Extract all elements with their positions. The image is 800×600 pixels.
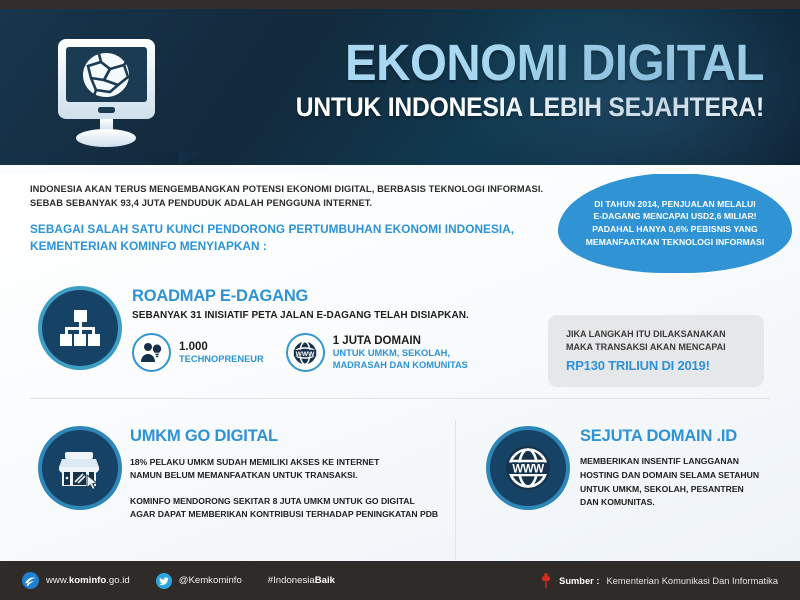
domain-line-1: MEMBERIKAN INSENTIF LANGGANAN <box>580 455 795 469</box>
stat-label: TECHNOPRENEUR <box>179 354 264 366</box>
umkm-text-block: UMKM GO DIGITAL 18% PELAKU UMKM SUDAH ME… <box>130 427 440 521</box>
callout-line-4: MEMANFAATKAN TEKNOLOGI INFORMASI <box>586 236 765 249</box>
monitor-globe-icon <box>44 31 169 153</box>
domain-text-block: SEJUTA DOMAIN .ID MEMBERIKAN INSENTIF LA… <box>580 427 795 510</box>
domain-title: SEJUTA DOMAIN .ID <box>580 427 795 446</box>
pin-icon <box>540 573 552 589</box>
callout-line-1: DI TAHUN 2014, PENJUALAN MELALUI <box>586 198 765 211</box>
umkm-title: UMKM GO DIGITAL <box>130 427 440 446</box>
horizontal-divider <box>30 398 770 399</box>
page-subtitle: UNTUK INDONESIA LEBIH SEJAHTERA! <box>262 93 764 122</box>
roadmap-stats-row: 1.000 TECHNOPRENEUR WWW 1 JUTA DOMAIN UN… <box>132 333 532 372</box>
umkm-p2-line-1: KOMINFO MENDORONG SEKITAR 8 JUTA UMKM UN… <box>130 495 440 508</box>
page-footer: www.kominfo.go.id @Kemkominfo #Indonesia… <box>0 561 800 600</box>
footer-source-value: Kementerian Komunikasi Dan Informatika <box>606 576 778 586</box>
footer-twitter-label: @Kemkominfo <box>179 575 242 586</box>
stat-technopreneur: 1.000 TECHNOPRENEUR <box>132 333 264 372</box>
domain-line-4: DAN KOMUNITAS. <box>580 496 795 510</box>
umkm-icon-circle <box>42 430 118 506</box>
domain-icon-circle: WWW <box>490 430 566 506</box>
vertical-divider <box>455 420 456 560</box>
domain-line-2: HOSTING DAN DOMAIN SELAMA SETAHUN <box>580 469 795 483</box>
roadmap-icon-circle <box>42 290 118 366</box>
umkm-p1-line-1: 18% PELAKU UMKM SUDAH MEMILIKI AKSES KE … <box>130 456 440 469</box>
stat-number: 1.000 <box>179 340 264 354</box>
umkm-p2-line-2: AGAR DAPAT MEMBERIKAN KONTRIBUSI TERHADA… <box>130 508 440 521</box>
page-header: EKONOMI DIGITAL UNTUK INDONESIA LEBIH SE… <box>0 9 800 165</box>
domain-paragraph: MEMBERIKAN INSENTIF LANGGANAN HOSTING DA… <box>580 455 795 510</box>
footer-source-label: Sumber : <box>559 576 599 586</box>
footer-twitter[interactable]: @Kemkominfo <box>156 573 242 589</box>
footer-website[interactable]: www.kominfo.go.id <box>22 572 130 589</box>
stat-domain: WWW 1 JUTA DOMAIN UNTUK UMKM, SEKOLAH, M… <box>286 333 468 372</box>
roadmap-text-block: ROADMAP E-DAGANG SEBANYAK 31 INISIATIF P… <box>132 287 522 321</box>
callout-line-3: PADAHAL HANYA 0,6% PEBISNIS YANG <box>586 223 765 236</box>
footer-website-label: www.kominfo.go.id <box>46 575 130 586</box>
svg-text:WWW: WWW <box>512 464 544 476</box>
org-chart-icon <box>58 308 102 348</box>
roadmap-subtitle: SEBANYAK 31 INISIATIF PETA JALAN E-DAGAN… <box>132 310 522 321</box>
callout-ellipse: DI TAHUN 2014, PENJUALAN MELALUI E-DAGAN… <box>558 173 792 273</box>
twitter-icon <box>156 573 172 589</box>
umkm-paragraph-1: 18% PELAKU UMKM SUDAH MEMILIKI AKSES KE … <box>130 456 440 483</box>
intro-highlight-line-1: SEBAGAI SALAH SATU KUNCI PENDORONG PERTU… <box>30 221 550 237</box>
umkm-paragraph-2: KOMINFO MENDORONG SEKITAR 8 JUTA UMKM UN… <box>130 495 440 522</box>
top-accent-strip <box>0 0 800 9</box>
gray-line-1: JIKA LANGKAH ITU DILAKSANAKAN <box>566 328 764 341</box>
footer-hashtag[interactable]: #IndonesiaBaik <box>268 575 335 586</box>
footer-source-group: Sumber : Kementerian Komunikasi Dan Info… <box>540 573 778 589</box>
stat-label-2: MADRASAH DAN KOMUNITAS <box>333 360 468 372</box>
svg-text:WWW: WWW <box>296 350 315 357</box>
gray-highlight: RP130 TRILIUN DI 2019! <box>566 358 764 373</box>
umkm-p1-line-2: NAMUN BELUM MEMANFAATKAN UNTUK TRANSAKSI… <box>130 469 440 482</box>
domain-line-3: UNTUK UMKM, SEKOLAH, PESANTREN <box>580 483 795 497</box>
header-title-block: EKONOMI DIGITAL UNTUK INDONESIA LEBIH SE… <box>224 37 764 122</box>
technopreneur-icon <box>132 333 171 372</box>
www-globe-icon: WWW <box>503 443 553 493</box>
gray-line-2: MAKA TRANSAKSI AKAN MENCAPAI <box>566 341 764 354</box>
footer-left-group: www.kominfo.go.id @Kemkominfo #Indonesia… <box>22 572 361 589</box>
footer-hashtag-label: #IndonesiaBaik <box>268 575 335 586</box>
stat-number: 1 JUTA DOMAIN <box>333 334 468 348</box>
intro-line-2: SEBAB SEBANYAK 93,4 JUTA PENDUDUK ADALAH… <box>30 196 550 210</box>
www-globe-icon: WWW <box>286 333 325 372</box>
intro-block: INDONESIA AKAN TERUS MENGEMBANGKAN POTEN… <box>30 182 550 254</box>
storefront-cursor-icon <box>57 447 103 489</box>
intro-line-1: INDONESIA AKAN TERUS MENGEMBANGKAN POTEN… <box>30 182 550 196</box>
intro-highlight-line-2: KEMENTERIAN KOMINFO MENYIAPKAN : <box>30 238 550 254</box>
gray-callout-box: JIKA LANGKAH ITU DILAKSANAKAN MAKA TRANS… <box>548 315 764 387</box>
roadmap-title: ROADMAP E-DAGANG <box>132 287 522 306</box>
page-body: INDONESIA AKAN TERUS MENGEMBANGKAN POTEN… <box>0 165 800 561</box>
page-title: EKONOMI DIGITAL <box>262 37 764 88</box>
kominfo-logo-icon <box>22 572 39 589</box>
stat-label: UNTUK UMKM, SEKOLAH, <box>333 348 468 360</box>
callout-line-2: E-DAGANG MENCAPAI USD2,6 MILIAR! <box>586 210 765 223</box>
